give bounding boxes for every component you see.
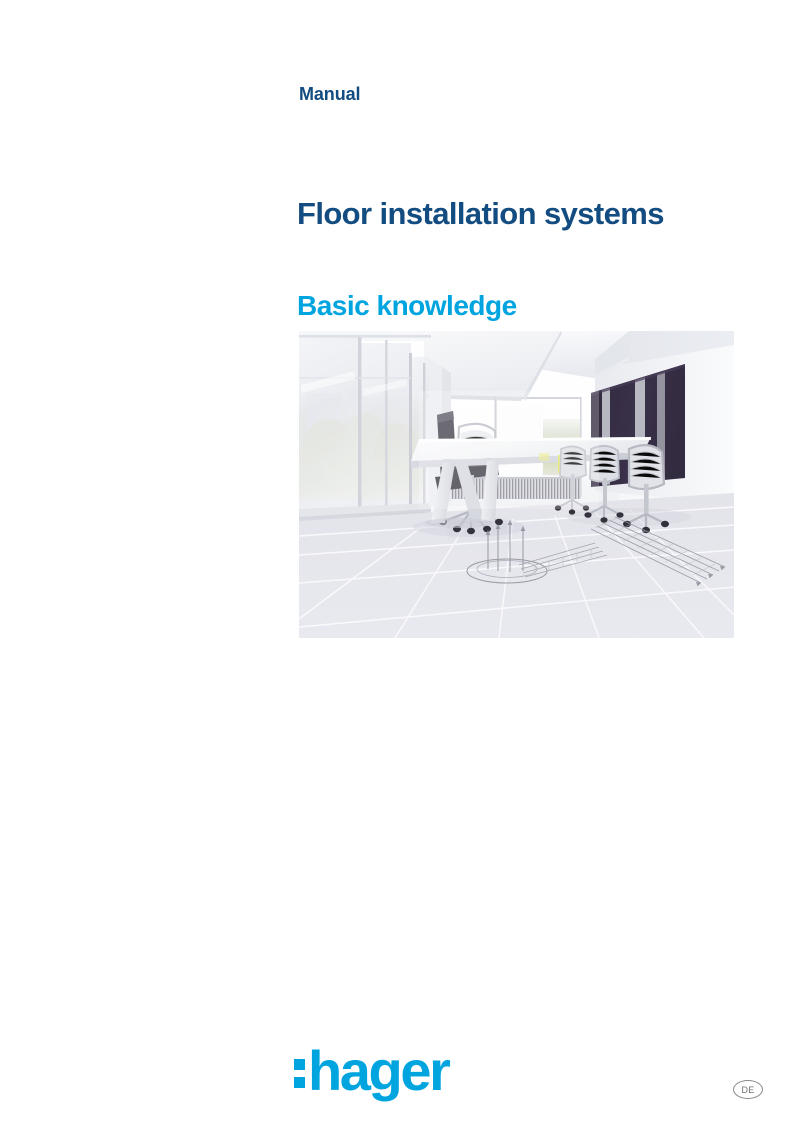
- page-title: Floor installation systems: [297, 196, 664, 232]
- document-cover-page: Manual Floor installation systems Basic …: [0, 0, 802, 1134]
- hager-logo: hager: [294, 1043, 449, 1099]
- office-interior-illustration: [299, 331, 734, 638]
- page-subtitle: Basic knowledge: [297, 290, 517, 322]
- cover-image: [299, 331, 734, 638]
- logo-wordmark: hager: [308, 1043, 449, 1099]
- document-type-label: Manual: [299, 84, 360, 105]
- language-badge-label: DE: [742, 1085, 755, 1095]
- logo-colon-mark: [294, 1055, 305, 1088]
- language-badge: DE: [733, 1080, 763, 1099]
